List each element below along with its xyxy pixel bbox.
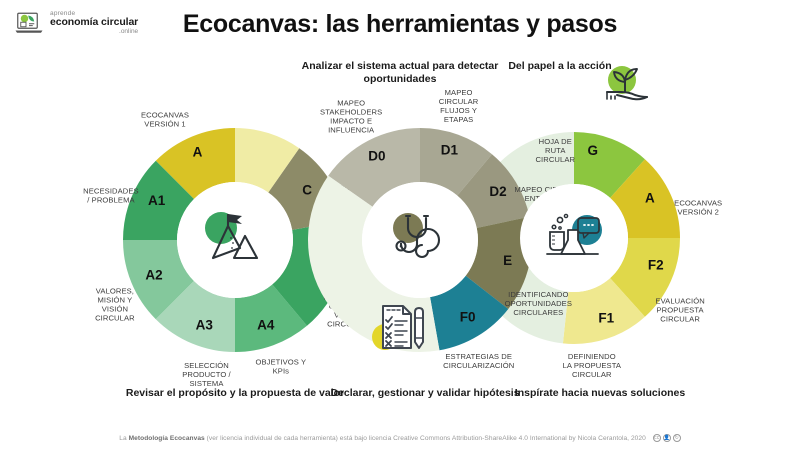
segment-code: E: [503, 253, 512, 268]
segment-code: A4: [257, 318, 275, 333]
footer-prefix: La: [119, 435, 128, 442]
segment-code: A2: [145, 267, 162, 282]
slide-canvas: aprende economía circular .online Ecocan…: [0, 0, 800, 450]
footer-suffix: (ver licencia individual de cada herrami…: [205, 435, 646, 442]
by-icon: 👤: [663, 434, 671, 442]
segment-code: D2: [489, 184, 506, 199]
segment-code: G: [587, 143, 598, 158]
cc-icon: cc: [653, 434, 661, 442]
ecocanvas-diagram: GHOJA DERUTACIRCULARAECOCANVASVERSIÓN 2F…: [0, 0, 800, 450]
footer-bold: Metodología Ecocanvas: [129, 435, 205, 442]
ring-2-hub: [362, 182, 478, 298]
segment-code: A1: [148, 193, 166, 208]
segment-label: SELECCIÓNPRODUCTO /SISTEMA: [182, 361, 231, 388]
segment-label: DEFINIENDOLA PROPUESTACIRCULAR: [563, 352, 622, 379]
segment-label: EVALUACIÓNPROPUESTACIRCULAR: [655, 297, 704, 324]
footer-license: La Metodología Ecocanvas (ver licencia i…: [0, 434, 800, 442]
segment-code: A3: [196, 318, 214, 333]
creative-commons-badges: cc 👤 ↻: [653, 434, 681, 442]
segment-code: F1: [598, 311, 614, 326]
hand-plant-icon: [607, 66, 647, 99]
segment-label: VALORES,MISIÓN YVISIÓNCIRCULAR: [95, 286, 135, 322]
segment-label: NECESIDADES/ PROBLEMA: [83, 186, 139, 204]
segment-label: OBJETIVOS YKPIs: [255, 357, 306, 375]
segment-label: ESTRATEGIAS DECIRCULARIZACIÓN: [443, 352, 514, 370]
segment-label: IDENTIFICANDOOPORTUNIDADESCIRCULARES: [505, 290, 572, 317]
segment-code: D1: [441, 143, 459, 158]
segment-code: D0: [368, 148, 385, 163]
segment-code: F2: [648, 258, 664, 273]
segment-code: C: [302, 183, 312, 198]
segment-code: F0: [460, 309, 476, 324]
segment-code: A: [193, 145, 203, 160]
segment-label: ECOCANVASVERSIÓN 2: [674, 199, 722, 217]
segment-code: A: [645, 191, 655, 206]
segment-label: MAPEOSTAKEHOLDERSIMPACTO EINFLUENCIA: [320, 98, 382, 134]
segment-label: ECOCANVASVERSIÓN 1: [141, 110, 189, 128]
sa-icon: ↻: [673, 434, 681, 442]
segment-label: MAPEOCIRCULARFLUJOS YETAPAS: [439, 88, 479, 124]
